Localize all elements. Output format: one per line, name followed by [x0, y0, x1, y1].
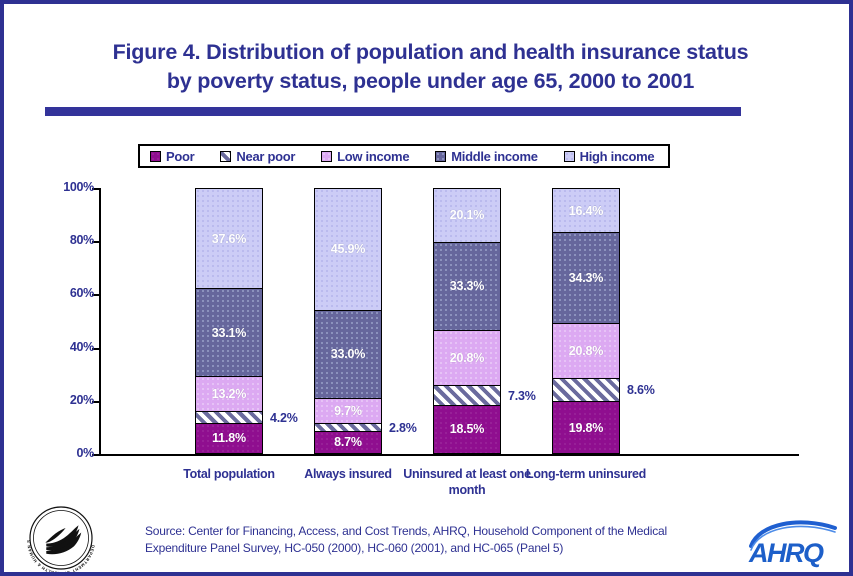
x-axis-category-label: Long-term uninsured — [511, 466, 661, 482]
bar-segment-value-label: 4.2% — [270, 411, 298, 425]
legend-item-poor[interactable]: Poor — [150, 149, 194, 164]
bar-segment-value-label: 13.2% — [212, 387, 246, 401]
legend-item-label: Low income — [337, 149, 409, 164]
bar-segment[interactable]: 7.3% — [433, 385, 501, 404]
bar-segment-value-label: 16.4% — [569, 204, 603, 218]
bar-segment-value-label: 34.3% — [569, 271, 603, 285]
legend-swatch-icon — [321, 151, 332, 162]
bar-segment-value-label: 20.1% — [450, 208, 484, 222]
bar-stack[interactable]: 37.6%33.1%13.2%4.2%11.8% — [195, 188, 263, 454]
title-line-2: by poverty status, people under age 65, … — [4, 67, 853, 96]
source-line-2: Expenditure Panel Survey, HC-050 (2000),… — [145, 540, 745, 557]
source-line-1: Source: Center for Financing, Access, an… — [145, 523, 745, 540]
bar-segment[interactable]: 9.7% — [314, 398, 382, 424]
bar-segment[interactable]: 33.1% — [195, 288, 263, 376]
y-axis-label: 20% — [14, 393, 94, 407]
legend-swatch-icon — [564, 151, 575, 162]
bar-segment-value-label: 8.6% — [627, 383, 655, 397]
figure-page: Figure 4. Distribution of population and… — [0, 0, 853, 576]
bar-segment[interactable]: 45.9% — [314, 188, 382, 310]
legend-item-label: Near poor — [236, 149, 295, 164]
bar-segment[interactable]: 20.8% — [552, 323, 620, 378]
bar-segment[interactable]: 8.7% — [314, 431, 382, 454]
title-divider — [45, 107, 741, 116]
legend-item-near-poor[interactable]: Near poor — [220, 149, 295, 164]
bar-segment-value-label: 9.7% — [334, 404, 362, 418]
bar-segment[interactable]: 2.8% — [314, 423, 382, 430]
bar-segment[interactable]: 33.3% — [433, 242, 501, 331]
bar-segment-value-label: 20.8% — [450, 351, 484, 365]
bar-segment[interactable]: 18.5% — [433, 405, 501, 454]
bar-segment[interactable]: 8.6% — [552, 378, 620, 401]
y-axis-label: 80% — [14, 233, 94, 247]
legend-swatch-icon — [220, 151, 231, 162]
x-axis — [99, 454, 799, 456]
bar-segment-value-label: 8.7% — [334, 435, 362, 449]
bar-segment-value-label: 33.0% — [331, 347, 365, 361]
bar-segment[interactable]: 13.2% — [195, 376, 263, 411]
bar-segment[interactable]: 34.3% — [552, 232, 620, 323]
bar-segment-value-label: 33.3% — [450, 279, 484, 293]
bar-segment-value-label: 20.8% — [569, 344, 603, 358]
bar-segment-value-label: 33.1% — [212, 326, 246, 340]
bar-segment-value-label: 45.9% — [331, 242, 365, 256]
title-line-1: Figure 4. Distribution of population and… — [4, 38, 853, 67]
y-axis-label: 40% — [14, 340, 94, 354]
legend-item-label: Poor — [166, 149, 194, 164]
plot-area: 0%20%40%60%80%100%37.6%33.1%13.2%4.2%11.… — [99, 188, 799, 456]
bar-segment-value-label: 18.5% — [450, 422, 484, 436]
legend-item-low-income[interactable]: Low income — [321, 149, 409, 164]
bar-stack[interactable]: 16.4%34.3%20.8%8.6%19.8% — [552, 188, 620, 454]
svg-text:DEPARTMENT OF HEALTH & HUMAN S: DEPARTMENT OF HEALTH & HUMAN SERVICES · … — [22, 502, 96, 574]
legend-swatch-icon — [150, 151, 161, 162]
legend-item-label: Middle income — [451, 149, 537, 164]
chart-legend: PoorNear poorLow incomeMiddle incomeHigh… — [138, 144, 670, 168]
bar-segment-value-label: 11.8% — [212, 431, 246, 445]
legend-item-label: High income — [580, 149, 655, 164]
bar-segment-value-label: 37.6% — [212, 232, 246, 246]
bar-segment[interactable]: 11.8% — [195, 423, 263, 454]
legend-swatch-icon — [435, 151, 446, 162]
legend-item-high-income[interactable]: High income — [564, 149, 655, 164]
legend-item-middle-income[interactable]: Middle income — [435, 149, 537, 164]
y-axis-label: 60% — [14, 286, 94, 300]
ahrq-logo: AHRQ — [745, 516, 845, 568]
bar-segment[interactable]: 20.1% — [433, 188, 501, 241]
hhs-seal-logo: DEPARTMENT OF HEALTH & HUMAN SERVICES · … — [22, 502, 100, 574]
page-title: Figure 4. Distribution of population and… — [4, 38, 853, 96]
bar-stack[interactable]: 20.1%33.3%20.8%7.3%18.5% — [433, 188, 501, 454]
ahrq-wordmark: AHRQ — [748, 538, 824, 568]
bar-segment[interactable]: 37.6% — [195, 188, 263, 288]
bar-segment-value-label: 2.8% — [389, 421, 417, 435]
y-axis-label: 0% — [14, 446, 94, 460]
bar-segment[interactable]: 16.4% — [552, 188, 620, 232]
bar-segment[interactable]: 19.8% — [552, 401, 620, 454]
bar-segment[interactable]: 20.8% — [433, 330, 501, 385]
bar-segment[interactable]: 33.0% — [314, 310, 382, 398]
y-axis — [99, 188, 101, 456]
bar-segment[interactable]: 4.2% — [195, 411, 263, 422]
source-note: Source: Center for Financing, Access, an… — [145, 523, 745, 557]
bar-segment-value-label: 19.8% — [569, 421, 603, 435]
bar-stack[interactable]: 45.9%33.0%9.7%2.8%8.7% — [314, 188, 382, 454]
y-axis-label: 100% — [14, 180, 94, 194]
bar-segment-value-label: 7.3% — [508, 389, 536, 403]
